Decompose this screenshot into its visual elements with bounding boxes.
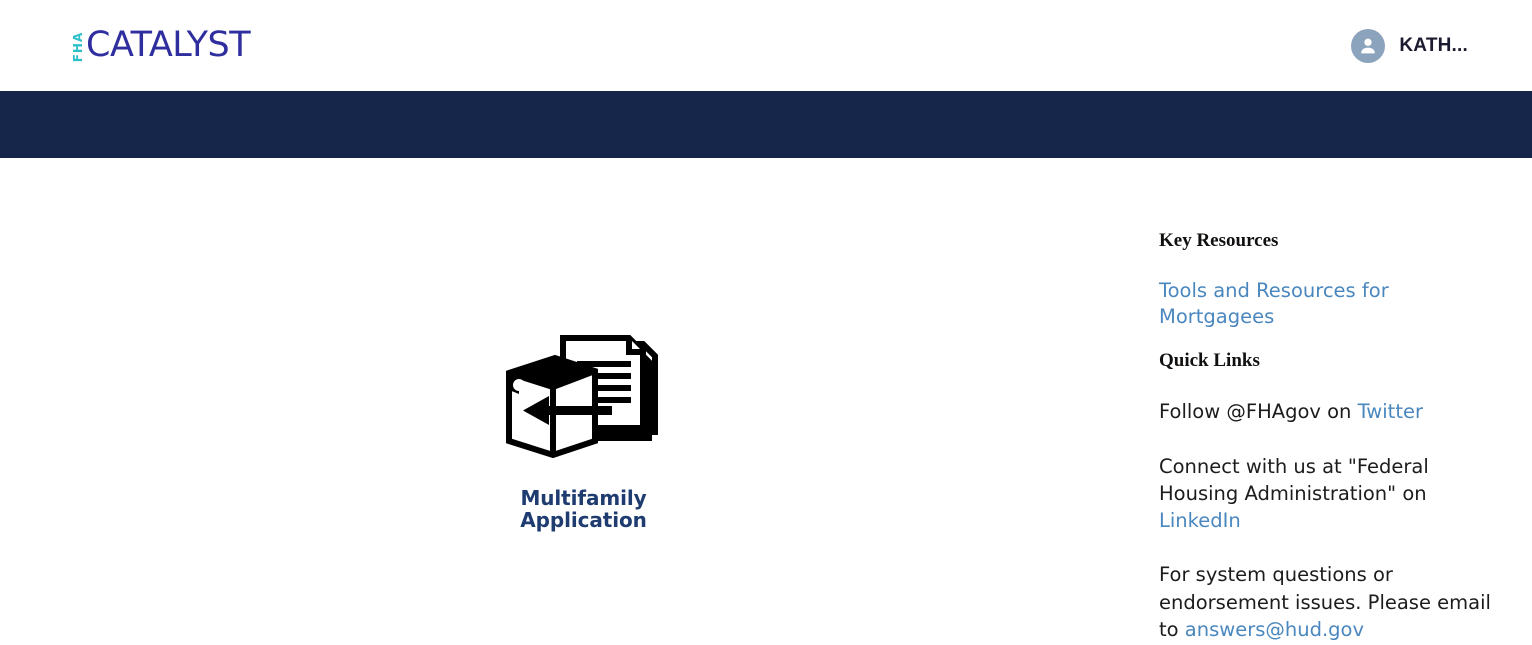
- linkedin-line: Connect with us at "Federal Housing Admi…: [1159, 453, 1499, 535]
- linkedin-link[interactable]: LinkedIn: [1159, 509, 1241, 532]
- twitter-prefix-text: Follow @FHAgov on: [1159, 400, 1358, 423]
- top-header: FHA CATALYST KATH...: [0, 0, 1532, 91]
- sidebar-key-resources: Key Resources Tools and Resources for Mo…: [1159, 230, 1499, 645]
- tools-and-resources-link[interactable]: Tools and Resources for Mortgagees: [1159, 279, 1389, 328]
- person-avatar-icon: [1351, 29, 1385, 63]
- documents-into-folder-icon: [495, 328, 673, 463]
- page-root: FHA CATALYST KATH...: [0, 0, 1532, 645]
- catalyst-logo-text: CATALYST: [86, 28, 250, 63]
- twitter-link[interactable]: Twitter: [1358, 400, 1423, 423]
- main-content: Multifamily Application Key Resources To…: [0, 158, 1532, 645]
- multifamily-application-tile[interactable]: Multifamily Application: [466, 328, 701, 531]
- primary-navigation-bar[interactable]: [0, 91, 1532, 158]
- tile-label: Multifamily Application: [466, 487, 701, 531]
- fha-catalyst-logo[interactable]: FHA CATALYST: [70, 23, 250, 69]
- user-menu[interactable]: KATH...: [1351, 29, 1468, 63]
- user-name-label: KATH...: [1399, 35, 1468, 57]
- email-line: For system questions or endorsement issu…: [1159, 561, 1499, 643]
- email-link[interactable]: answers@hud.gov: [1185, 618, 1364, 641]
- quick-links-heading: Quick Links: [1159, 350, 1499, 373]
- fha-logo-text: FHA: [71, 30, 85, 64]
- linkedin-prefix-text: Connect with us at "Federal Housing Admi…: [1159, 455, 1429, 505]
- key-resources-heading: Key Resources: [1159, 230, 1499, 253]
- twitter-line: Follow @FHAgov on Twitter: [1159, 398, 1499, 425]
